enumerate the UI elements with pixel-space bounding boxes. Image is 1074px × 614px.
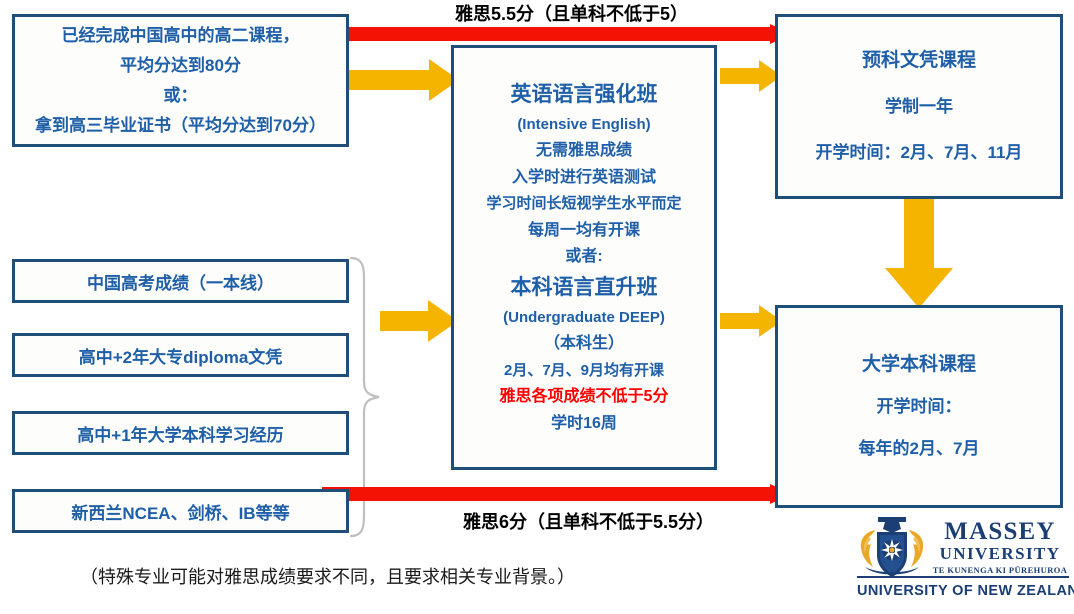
massey-crest-icon [857,517,927,579]
label-ielts-bottom: 雅思6分（且单科不低于5.5分） [463,508,714,534]
box-bachelor-degree: 大学本科课程 开学时间： 每年的2月、7月 [775,305,1063,508]
box-high-school-year2-line-1: 已经完成中国高中的高二课程， [15,21,346,51]
box-high-school-year2-line-4: 拿到高三毕业证书（平均分达到70分） [15,111,346,141]
yellow-arrow-hs2-to-intensive [349,59,459,101]
yellow-arrow-down-shaft [904,198,934,270]
yellow-arrow-intensive-to-foundation [720,60,782,92]
box-high-school-year2-line-3: 或： [15,81,346,111]
box-bachelor-intake-label: 开学时间： [778,386,1060,428]
box-intensive-line-6: 每周一均有开课 [454,218,714,245]
yellow-arrow-2-shaft [720,68,762,84]
yellow-arrow-intensive-to-bachelor [720,305,782,337]
box-deep-title: 本科语言直升班 [454,271,714,305]
yellow-arrow-down-head [885,268,953,308]
box-foundation-certificate: 预科文凭课程 学制一年 开学时间：2月、7月、11月 [775,14,1063,199]
red-arrow-bottom-shaft [322,487,772,501]
red-arrow-top-shaft [322,27,772,41]
box-qualification-diploma: 高中+2年大专diploma文凭 [12,333,349,377]
box-qualification-gaokao: 中国高考成绩（一本线） [12,259,349,303]
box-qualification-ncea-label: 新西兰NCEA、剑桥、IB等等 [71,499,289,524]
box-intensive-english-sub: (Intensive English) [454,112,714,139]
box-intensive-title: 英语语言强化班 [454,78,714,112]
box-foundation-intakes: 开学时间：2月、7月、11月 [778,130,1060,176]
massey-name-line2: UNIVERSITY [929,544,1071,564]
box-qualification-ncea: 新西兰NCEA、剑桥、IB等等 [12,489,349,533]
box-intensive-english: 英语语言强化班 (Intensive English) 无需雅思成绩 入学时进行… [451,45,717,470]
box-qualification-gaokao-label: 中国高考成绩（一本线） [87,269,274,294]
red-arrow-top [322,24,792,44]
label-footnote: （特殊专业可能对雅思成绩要求不同，且要求相关专业背景。） [80,563,575,589]
yellow-arrow-foundation-to-bachelor [885,198,953,308]
yellow-arrow-1-shaft [349,70,433,90]
box-deep-english-sub: (Undergraduate DEEP) [454,305,714,332]
box-intensive-or: 或者: [454,244,714,271]
box-deep-duration: 学时16周 [454,411,714,438]
massey-name-line1: MASSEY [929,519,1071,544]
box-qualification-one-year-bachelor: 高中+1年大学本科学习经历 [12,411,349,455]
massey-university-logo: MASSEY UNIVERSITY TE KUNENGA KI PŪREHURO… [857,519,1069,609]
box-bachelor-intakes: 每年的2月、7月 [778,428,1060,470]
box-deep-intakes: 2月、7月、9月均有开课 [454,358,714,385]
yellow-arrow-3-shaft [380,311,432,331]
yellow-arrow-qualifications-to-intensive [380,300,458,342]
red-arrow-bottom [322,484,792,504]
box-bachelor-title: 大学本科课程 [778,344,1060,386]
diagram-canvas: 已经完成中国高中的高二课程， 平均分达到80分 或： 拿到高三毕业证书（平均分达… [0,0,1074,614]
box-qualification-diploma-label: 高中+2年大专diploma文凭 [79,343,283,368]
logo-divider [857,576,1069,578]
box-deep-level: （本科生） [454,331,714,358]
massey-wordmark: MASSEY UNIVERSITY TE KUNENGA KI PŪREHURO… [929,519,1071,577]
box-intensive-line-4: 入学时进行英语测试 [454,165,714,192]
box-high-school-year2: 已经完成中国高中的高二课程， 平均分达到80分 或： 拿到高三毕业证书（平均分达… [12,14,349,147]
yellow-arrow-4-shaft [720,313,762,329]
label-ielts-top: 雅思5.5分（且单科不低于5） [455,0,688,26]
box-high-school-year2-line-2: 平均分达到80分 [15,51,346,81]
logo-tagline: UNIVERSITY OF NEW ZEALAND [857,583,1069,599]
box-deep-ielts-warning: 雅思各项成绩不低于5分 [454,384,714,411]
box-intensive-line-3: 无需雅思成绩 [454,138,714,165]
box-foundation-title: 预科文凭课程 [778,38,1060,84]
box-foundation-duration: 学制一年 [778,84,1060,130]
box-intensive-line-5: 学习时间长短视学生水平而定 [454,191,714,218]
box-qualification-one-year-bachelor-label: 高中+1年大学本科学习经历 [77,421,283,446]
